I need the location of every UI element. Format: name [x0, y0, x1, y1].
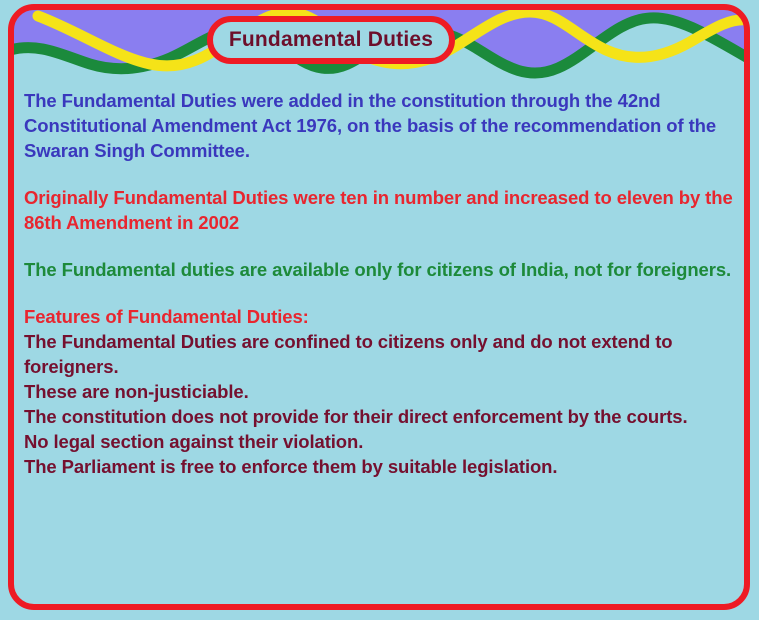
paragraph-origin: The Fundamental Duties were added in the… — [24, 88, 742, 163]
list-item: The constitution does not provide for th… — [24, 404, 742, 429]
list-item: The Fundamental Duties are confined to c… — [24, 329, 742, 379]
document-body: The Fundamental Duties were added in the… — [24, 88, 742, 479]
paragraph-count: Originally Fundamental Duties were ten i… — [24, 185, 742, 235]
list-item: These are non-justiciable. — [24, 379, 742, 404]
list-item: The Parliament is free to enforce them b… — [24, 454, 742, 479]
list-item: No legal section against their violation… — [24, 429, 742, 454]
features-heading: Features of Fundamental Duties: — [24, 304, 742, 329]
document-page: Fundamental Duties The Fundamental Dutie… — [0, 0, 759, 620]
paragraph-applicability: The Fundamental duties are available onl… — [24, 257, 742, 282]
page-title: Fundamental Duties — [229, 28, 433, 52]
page-title-box: Fundamental Duties — [207, 16, 455, 64]
features-list: The Fundamental Duties are confined to c… — [24, 329, 742, 479]
features-section: Features of Fundamental Duties: The Fund… — [24, 304, 742, 479]
